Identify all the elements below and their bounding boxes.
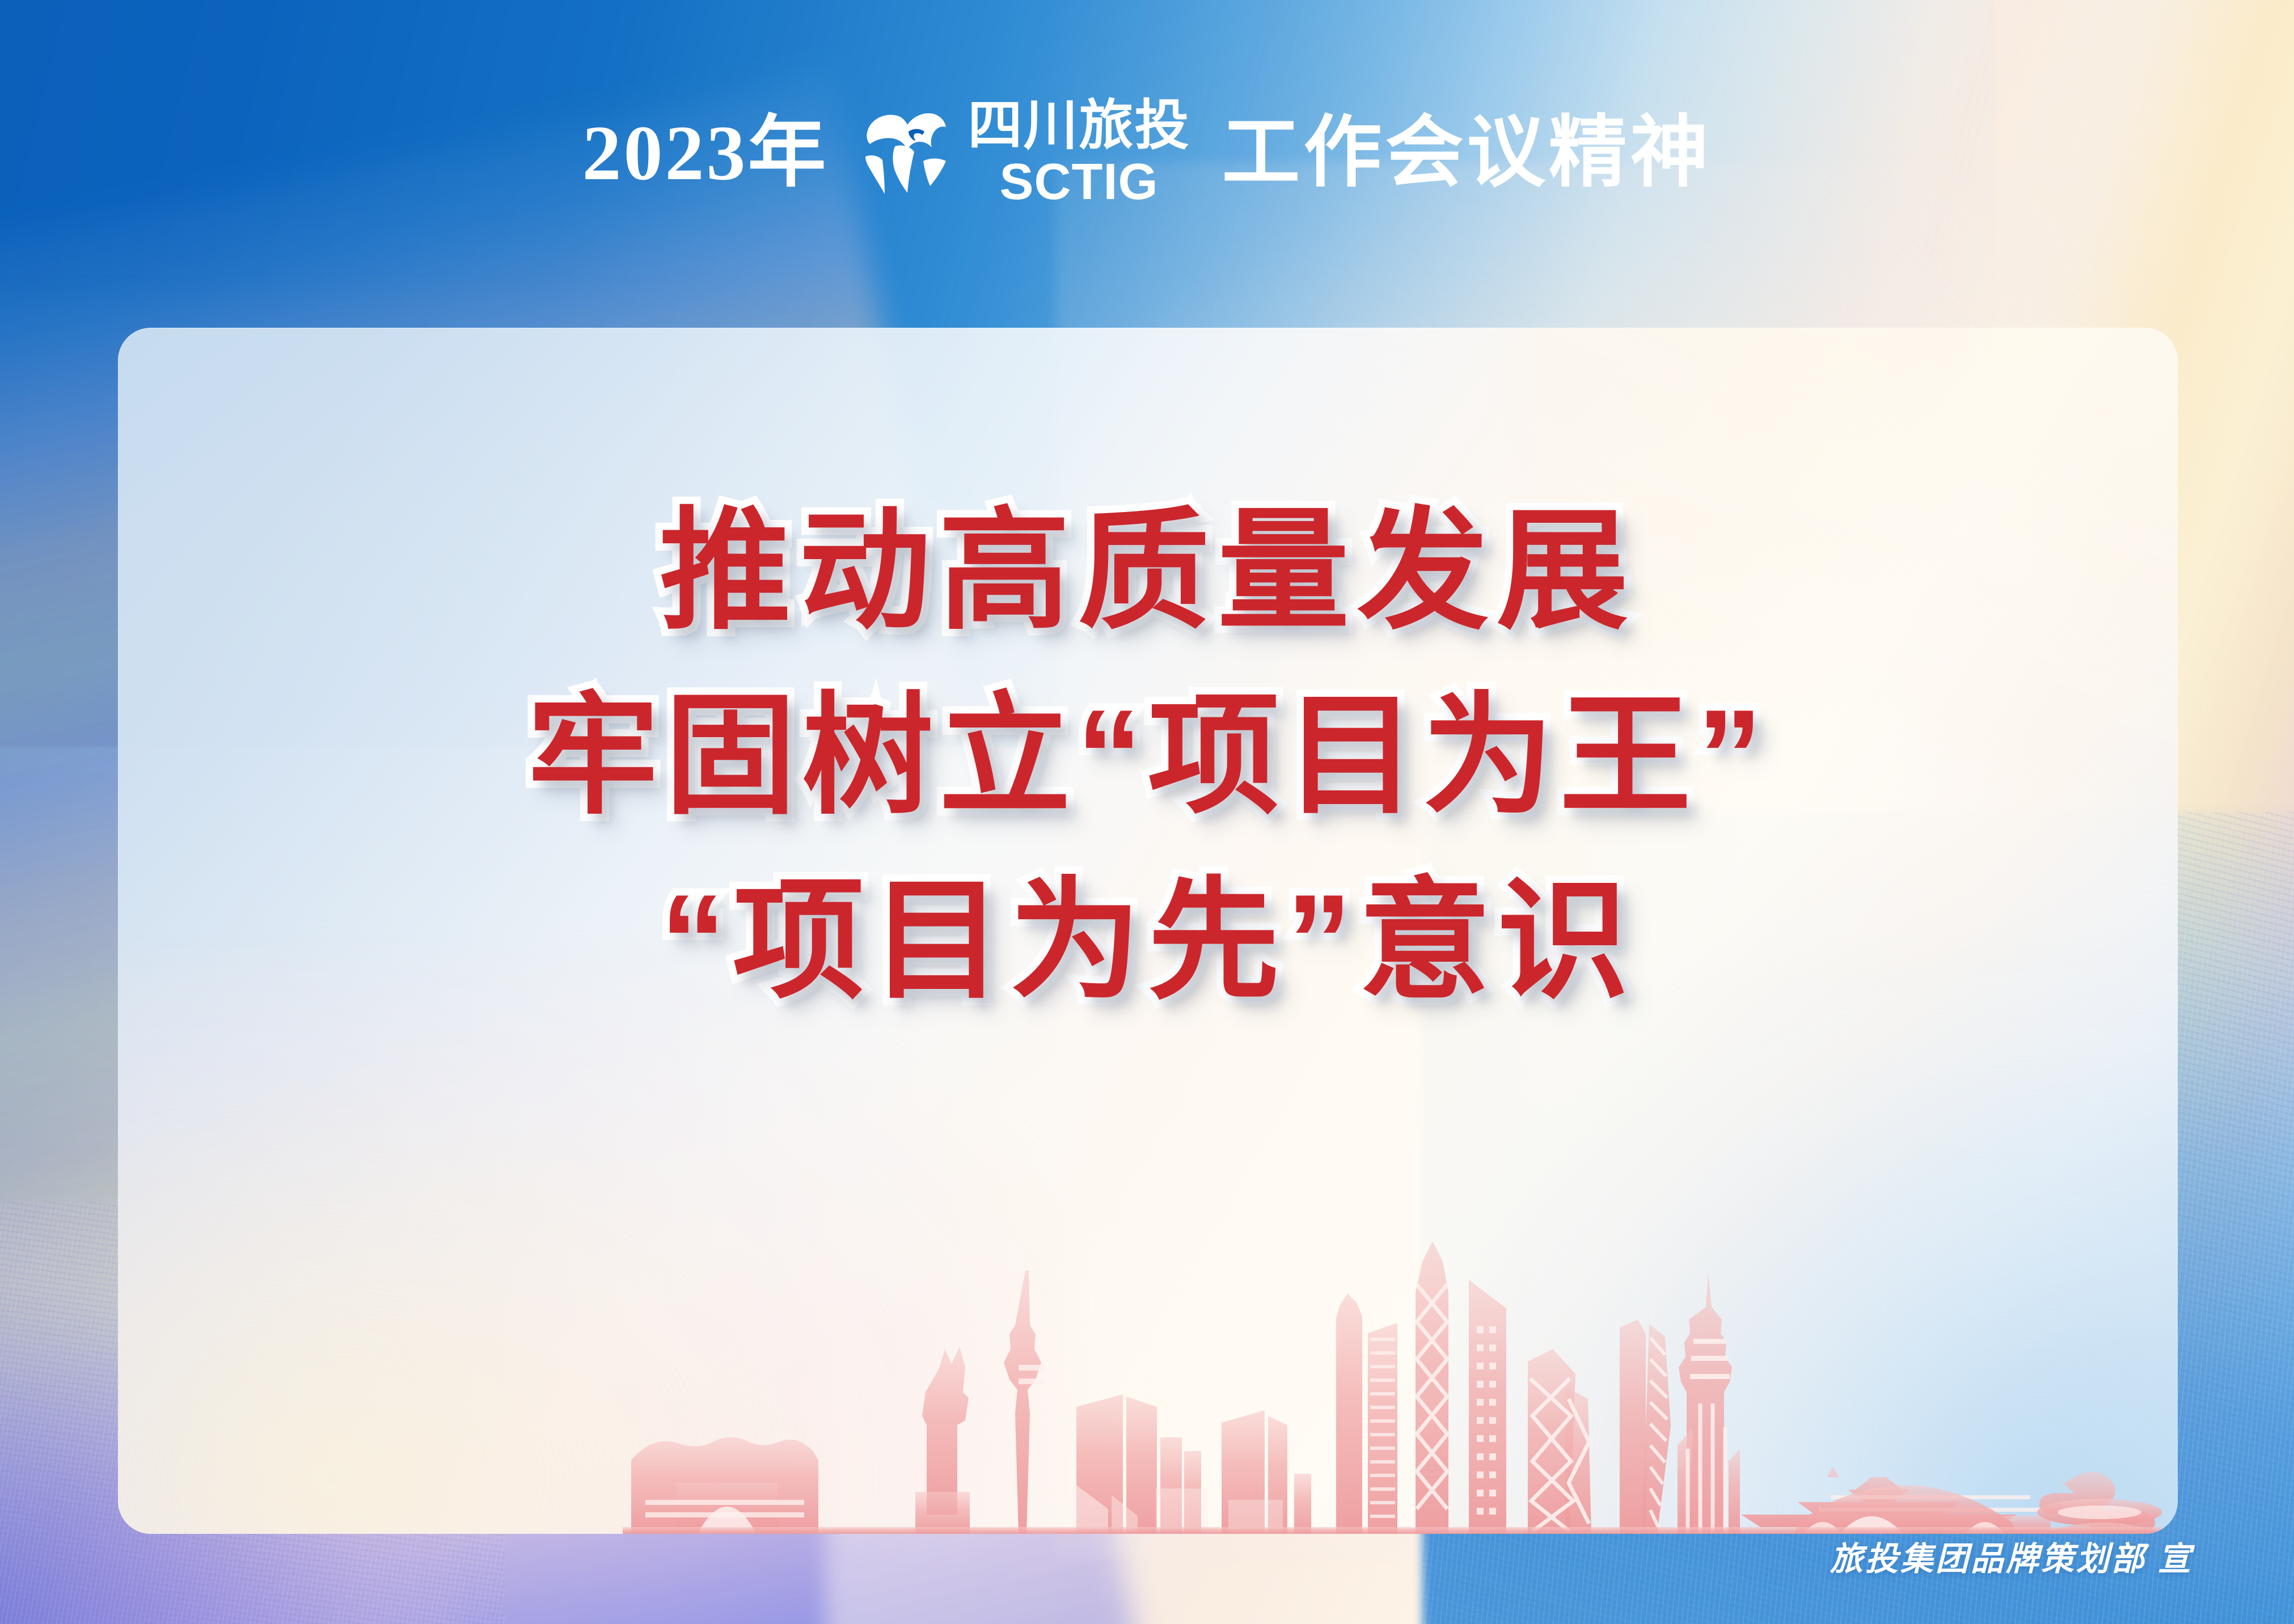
- footer-credit: 旅投集团品牌策划部 宣: [1830, 1532, 2193, 1580]
- poster-canvas: 2023年 四川旅投 SCTIG 工作会议精神: [0, 0, 2294, 1624]
- headline-line-2: 牢固树立“项目为王”: [527, 683, 1768, 830]
- card-glow-bottom-left: [118, 955, 1066, 1534]
- header-subject: 工作会议精神: [1222, 114, 1712, 192]
- headline-line-3: “项目为先”意识: [660, 868, 1636, 1015]
- panda-logo-icon: [860, 109, 954, 197]
- brand-name-en: SCTIG: [999, 157, 1158, 208]
- content-card: 推动高质量发展 牢固树立“项目为王” “项目为先”意识: [118, 328, 2178, 1534]
- brand-lockup: 四川旅投 SCTIG: [860, 99, 1190, 208]
- headline-line-1: 推动高质量发展: [660, 498, 1636, 645]
- brand-name-cn: 四川旅投: [968, 99, 1190, 153]
- card-glow-bottom-right: [1477, 955, 2178, 1534]
- header-year: 2023年: [582, 114, 828, 192]
- brand-wordmark: 四川旅投 SCTIG: [968, 99, 1190, 208]
